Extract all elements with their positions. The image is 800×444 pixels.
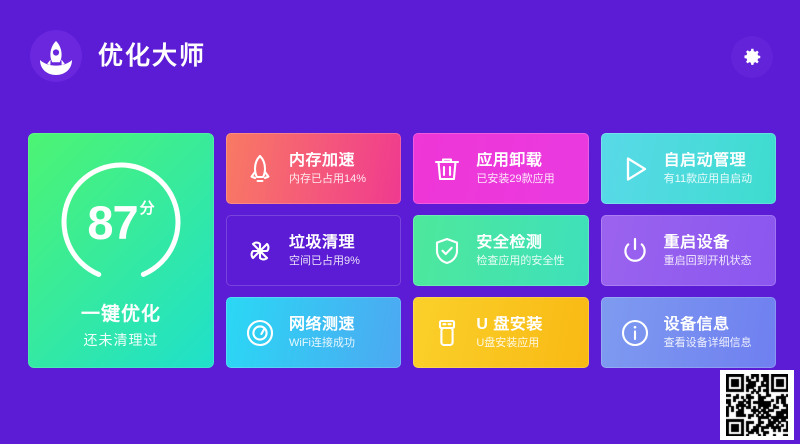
tile-title: 网络测速 [289,316,355,334]
info-circle-icon [615,313,655,353]
tile-subtitle: 有11款应用自启动 [664,173,752,185]
tile-subtitle: 查看设备详细信息 [664,337,752,349]
tile-subtitle: 内存已占用14% [289,173,366,185]
power-icon [615,231,655,271]
trash-icon [427,149,467,189]
speedometer-icon [240,313,280,353]
tile-usb-install[interactable]: U 盘安装 U盘安装应用 [413,297,588,368]
tile-subtitle: 已安装29款应用 [476,173,554,185]
tile-app-uninstall[interactable]: 应用卸载 已安装29款应用 [413,133,588,204]
tile-subtitle: 空间已占用9% [289,255,360,267]
one-key-optimize-title: 一键优化 [28,299,214,326]
usb-drive-icon [427,313,467,353]
rocket-icon [30,30,82,82]
rocket-icon [240,149,280,189]
tile-subtitle: 重启回到开机状态 [664,255,752,267]
tile-text: U 盘安装 U盘安装应用 [476,316,543,349]
tile-title: 设备信息 [664,316,752,334]
tile-autostart-manage[interactable]: 自启动管理 有11款应用自启动 [601,133,776,204]
tile-text: 重启设备 重启回到开机状态 [664,234,752,267]
tile-text: 垃圾清理 空间已占用9% [289,234,360,267]
tile-title: 应用卸载 [476,152,554,170]
brand: 优化大师 [30,30,206,82]
score-number: 87 [87,199,137,246]
tile-title: 内存加速 [289,152,366,170]
shield-check-icon [427,231,467,271]
app-root: 优化大师 87 分 一键优化 还未清理过 [0,0,800,444]
score-gauge: 87 分 [54,155,188,289]
page-title: 优化大师 [98,44,206,69]
tile-subtitle: U盘安装应用 [476,337,543,349]
tile-device-info[interactable]: 设备信息 查看设备详细信息 [601,297,776,368]
app-header: 优化大师 [0,0,800,110]
tile-security-check[interactable]: 安全检测 检查应用的安全性 [413,215,588,286]
score-value-group: 87 分 [54,155,188,289]
tile-text: 网络测速 WiFi连接成功 [289,316,355,349]
main-content: 87 分 一键优化 还未清理过 内存加速 [28,133,776,368]
tile-restart-device[interactable]: 重启设备 重启回到开机状态 [601,215,776,286]
one-key-optimize-card[interactable]: 87 分 一键优化 还未清理过 [28,133,214,368]
tile-text: 安全检测 检查应用的安全性 [476,234,564,267]
tile-title: 自启动管理 [664,152,752,170]
gear-icon[interactable] [731,36,773,78]
qr-code [720,370,794,440]
feature-tile-grid: 内存加速 内存已占用14% 应用卸载 已安装29款应用 [226,133,776,368]
tile-memory-boost[interactable]: 内存加速 内存已占用14% [226,133,401,204]
tile-title: 安全检测 [476,234,564,252]
play-triangle-icon [615,149,655,189]
tile-text: 自启动管理 有11款应用自启动 [664,152,752,185]
tile-text: 设备信息 查看设备详细信息 [664,316,752,349]
tile-text: 内存加速 内存已占用14% [289,152,366,185]
tile-title: 垃圾清理 [289,234,360,252]
tile-junk-clean[interactable]: 垃圾清理 空间已占用9% [226,215,401,286]
tile-network-speed-test[interactable]: 网络测速 WiFi连接成功 [226,297,401,368]
tile-subtitle: WiFi连接成功 [289,337,355,349]
score-unit: 分 [140,197,155,218]
tile-subtitle: 检查应用的安全性 [476,255,564,267]
tile-text: 应用卸载 已安装29款应用 [476,152,554,185]
pinwheel-icon [240,231,280,271]
tile-title: 重启设备 [664,234,752,252]
one-key-optimize-subtitle: 还未清理过 [28,330,214,350]
tile-title: U 盘安装 [476,316,543,334]
